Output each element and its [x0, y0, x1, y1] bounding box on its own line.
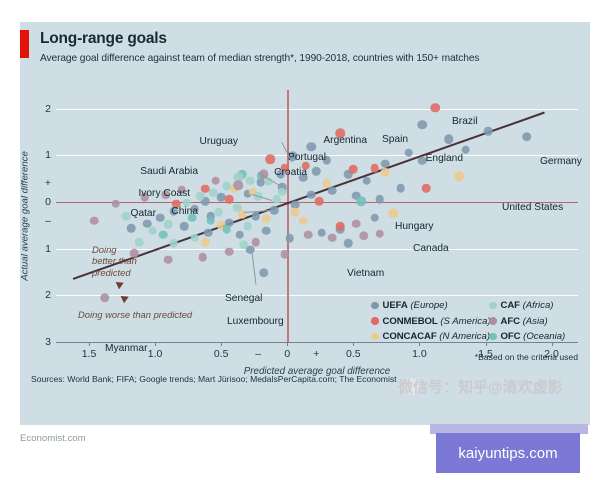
data-point[interactable]: [127, 224, 136, 233]
legend-dot-conmebol: [371, 317, 379, 325]
y-tick-label: 2: [29, 289, 51, 301]
legend-item-conmebol[interactable]: CONMEBOL (S America): [371, 316, 491, 327]
data-point[interactable]: [169, 239, 178, 248]
country-label-brazil: Brazil: [452, 116, 477, 127]
data-point[interactable]: [122, 212, 131, 221]
data-point[interactable]: [304, 230, 313, 239]
x-tick-label: 0.5: [214, 348, 229, 360]
data-point[interactable]: [299, 216, 308, 225]
data-point[interactable]: [323, 179, 332, 188]
data-point[interactable]: [233, 203, 242, 212]
legend-region-afc: (Asia): [520, 316, 548, 327]
x-tick-mark: [419, 342, 420, 346]
y-tick-label: +: [29, 177, 51, 189]
legend-item-afc[interactable]: AFC (Asia): [489, 316, 548, 327]
data-point[interactable]: [111, 200, 120, 209]
legend-item-uefa[interactable]: UEFA (Europe): [371, 300, 448, 311]
data-point-germany[interactable]: [522, 132, 532, 142]
country-label-qatar: Qatar: [131, 208, 156, 219]
chart-subtitle: Average goal difference against team of …: [40, 53, 479, 64]
data-point[interactable]: [225, 195, 234, 204]
data-point[interactable]: [291, 208, 300, 217]
data-point[interactable]: [148, 227, 157, 236]
x-tick-label: –: [255, 348, 261, 360]
data-point[interactable]: [212, 176, 221, 185]
data-point[interactable]: [272, 195, 281, 204]
data-point[interactable]: [317, 229, 326, 238]
data-point[interactable]: [206, 216, 215, 225]
y-tick-label: 1: [29, 243, 51, 255]
data-point[interactable]: [251, 212, 260, 221]
legend-dot-uefa: [371, 302, 379, 310]
zero-line-vertical: [287, 90, 288, 342]
x-tick-mark: [486, 342, 487, 346]
data-point[interactable]: [209, 188, 218, 197]
page-title: Long-range goals: [40, 30, 167, 48]
y-tick-label: –: [29, 215, 51, 227]
data-point-brazil[interactable]: [431, 103, 441, 113]
country-label-china: China: [171, 206, 198, 217]
data-point-england[interactable]: [444, 134, 454, 144]
y-tick-label: 2: [29, 103, 51, 115]
data-point-senegal[interactable]: [239, 240, 249, 250]
data-point[interactable]: [243, 222, 252, 231]
x-tick-label: 1.5: [82, 348, 97, 360]
y-tick-label: 0: [29, 196, 51, 208]
x-tick-mark: [552, 342, 553, 346]
data-point[interactable]: [352, 219, 361, 228]
data-point[interactable]: [397, 184, 406, 193]
country-label-united-states: United States: [502, 202, 563, 213]
data-point[interactable]: [222, 182, 231, 191]
legend-dot-caf: [489, 302, 497, 310]
data-point[interactable]: [349, 165, 358, 174]
data-point[interactable]: [362, 176, 371, 185]
data-point[interactable]: [225, 247, 234, 256]
sources-line: Sources: World Bank; FIFA; Google trends…: [31, 374, 397, 384]
watermark-site-text[interactable]: kaiyuntips.com: [436, 433, 580, 473]
data-point[interactable]: [328, 233, 337, 242]
data-point[interactable]: [196, 192, 205, 201]
data-point[interactable]: [344, 239, 353, 248]
data-point[interactable]: [328, 187, 337, 196]
gridline: [56, 109, 578, 110]
data-point-myanmar[interactable]: [100, 293, 110, 303]
data-point[interactable]: [159, 230, 168, 239]
country-label-germany: Germany: [540, 156, 582, 167]
data-point[interactable]: [204, 229, 213, 238]
legend-item-ofc[interactable]: OFC (Oceania): [489, 331, 565, 342]
legend-dot-ofc: [489, 333, 497, 341]
data-point-vietnam[interactable]: [359, 231, 369, 241]
country-label-croatia: Croatia: [274, 167, 307, 178]
data-point-united-states[interactable]: [454, 172, 464, 182]
data-point[interactable]: [214, 208, 223, 217]
country-label-vietnam: Vietnam: [347, 268, 384, 279]
data-point[interactable]: [201, 238, 210, 247]
x-tick-label: 0.5: [346, 348, 361, 360]
country-label-senegal: Senegal: [225, 293, 262, 304]
data-point[interactable]: [307, 190, 316, 199]
data-point[interactable]: [280, 250, 289, 259]
data-point-luxembourg[interactable]: [259, 268, 269, 278]
data-point[interactable]: [180, 222, 189, 231]
screenshot-root: Long-range goals Average goal difference…: [0, 0, 600, 480]
country-label-saudi-arabia: Saudi Arabia: [140, 166, 198, 177]
data-point[interactable]: [381, 159, 390, 168]
x-tick-mark: [353, 342, 354, 346]
country-label-ivory-coast: Ivory Coast: [138, 188, 190, 199]
data-point[interactable]: [376, 195, 385, 204]
data-point[interactable]: [376, 229, 385, 238]
country-label-hungary: Hungary: [395, 221, 434, 232]
data-point[interactable]: [262, 215, 271, 224]
annotation-worse: Doing worse than predicted: [78, 309, 192, 320]
legend-region-concacaf: (N America): [437, 331, 490, 342]
legend-region-ofc: (Oceania): [520, 331, 565, 342]
data-point-portugal[interactable]: [306, 142, 316, 152]
y-tick-label: 1: [29, 149, 51, 161]
data-point-china[interactable]: [234, 180, 244, 190]
x-tick-mark: [89, 342, 90, 346]
legend-item-concacaf[interactable]: CONCACAF (N America): [371, 331, 490, 342]
legend-label-afc: AFC: [501, 316, 520, 327]
data-point[interactable]: [164, 220, 173, 229]
legend-label-conmebol: CONMEBOL: [383, 316, 438, 327]
x-tick-label: 1.0: [148, 348, 163, 360]
x-tick-label: 0: [284, 348, 290, 360]
data-point[interactable]: [90, 216, 99, 225]
data-point[interactable]: [381, 168, 390, 177]
country-label-spain: Spain: [382, 134, 408, 145]
data-point[interactable]: [198, 253, 207, 262]
legend-dot-afc: [489, 317, 497, 325]
data-point[interactable]: [286, 234, 295, 243]
data-point[interactable]: [312, 167, 321, 176]
brand-label: Economist.com: [20, 433, 86, 444]
x-tick-mark: [287, 342, 288, 346]
country-label-luxembourg: Luxembourg: [227, 316, 284, 327]
data-point[interactable]: [370, 214, 379, 223]
legend-region-uefa: (Europe): [408, 300, 448, 311]
accent-bar: [20, 30, 29, 58]
watermark-chinese-text: 微信号：知乎@清欢虚影: [398, 376, 563, 397]
country-label-portugal: Portugal: [288, 152, 326, 163]
country-label-argentina: Argentina: [323, 135, 367, 146]
data-point[interactable]: [262, 227, 271, 236]
legend-label-caf: CAF: [501, 300, 520, 311]
legend-region-conmebol: (S America): [438, 316, 491, 327]
legend-region-caf: (Africa): [520, 300, 554, 311]
legend-dot-concacaf: [371, 333, 379, 341]
legend-label-concacaf: CONCACAF: [383, 331, 437, 342]
x-tick-label: +: [313, 348, 319, 360]
country-label-myanmar: Myanmar: [105, 343, 147, 354]
data-point-uruguay[interactable]: [265, 154, 275, 164]
data-point-canada[interactable]: [388, 208, 398, 218]
data-point[interactable]: [222, 225, 231, 234]
data-point[interactable]: [156, 214, 165, 223]
x-tick-label: 1.0: [412, 348, 427, 360]
gridline: [56, 295, 578, 296]
data-point[interactable]: [422, 184, 431, 193]
data-point[interactable]: [164, 256, 173, 265]
data-point[interactable]: [405, 148, 414, 157]
country-label-canada: Canada: [413, 243, 449, 254]
legend-label-ofc: OFC: [501, 331, 521, 342]
country-label-uruguay: Uruguay: [199, 136, 238, 147]
legend-item-caf[interactable]: CAF (Africa): [489, 300, 554, 311]
data-point[interactable]: [251, 238, 260, 247]
footnote: *Based on the criteria used: [475, 352, 578, 362]
data-point[interactable]: [191, 233, 200, 242]
data-point[interactable]: [246, 176, 255, 185]
x-tick-mark: [221, 342, 222, 346]
data-point[interactable]: [370, 164, 379, 173]
data-point[interactable]: [484, 127, 493, 136]
data-point[interactable]: [315, 197, 324, 206]
y-tick-label: 3: [29, 336, 51, 348]
chart-card: Long-range goals Average goal difference…: [20, 22, 590, 425]
data-point-spain[interactable]: [417, 120, 427, 130]
legend-label-uefa: UEFA: [383, 300, 408, 311]
x-tick-mark: [155, 342, 156, 346]
data-point-hungary[interactable]: [357, 196, 367, 206]
data-point[interactable]: [336, 222, 345, 231]
data-point[interactable]: [270, 206, 279, 215]
data-point[interactable]: [235, 230, 244, 239]
annotation-better: Doing better than predicted: [92, 244, 137, 278]
country-label-england: England: [426, 153, 463, 164]
